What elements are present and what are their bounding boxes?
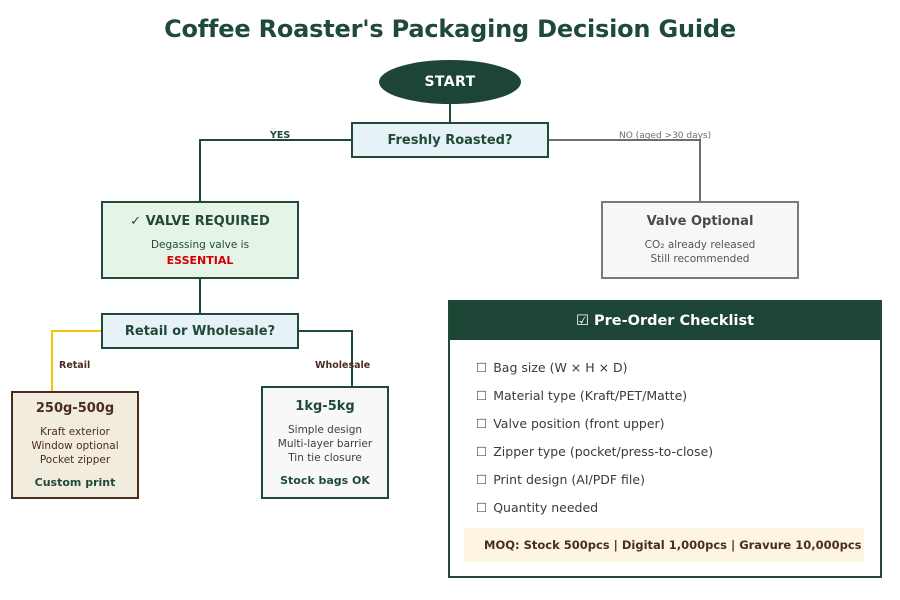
checkbox-empty-icon[interactable]: ☐ <box>476 466 487 494</box>
checklist-item-label: Valve position (front upper) <box>493 416 664 431</box>
checkbox-empty-icon[interactable]: ☐ <box>476 382 487 410</box>
checkbox-empty-icon[interactable]: ☐ <box>476 354 487 382</box>
checklist-item[interactable]: ☐Material type (Kraft/PET/Matte) <box>476 382 880 410</box>
checklist-item[interactable]: ☐Print design (AI/PDF file) <box>476 466 880 494</box>
connector-start-to-freshly <box>449 104 451 122</box>
checklist-item-label: Print design (AI/PDF file) <box>493 472 645 487</box>
valve-optional-heading: Valve Optional <box>647 214 754 229</box>
node-retail-spec[interactable]: 250g-500g Kraft exterior Window optional… <box>11 391 139 499</box>
connector-valve-to-channel <box>199 279 201 313</box>
checklist-item-label: Material type (Kraft/PET/Matte) <box>493 388 687 403</box>
moq-banner: MOQ: Stock 500pcs | Digital 1,000pcs | G… <box>464 528 864 562</box>
retail-sub-1: Kraft exterior <box>40 425 110 439</box>
wholesale-footnote: Stock bags OK <box>280 474 370 487</box>
page-title: Coffee Roaster's Packaging Decision Guid… <box>0 15 900 43</box>
edge-label-yes: YES <box>270 130 290 141</box>
node-valve-required[interactable]: ✓ VALVE REQUIRED Degassing valve is ESSE… <box>101 201 299 279</box>
checklist-item[interactable]: ☐Bag size (W × H × D) <box>476 354 880 382</box>
node-decision-freshly-label: Freshly Roasted? <box>387 133 512 148</box>
valve-required-heading: ✓ VALVE REQUIRED <box>130 214 270 229</box>
node-start[interactable]: START <box>379 60 521 104</box>
node-wholesale-spec[interactable]: 1kg-5kg Simple design Multi-layer barrie… <box>261 386 389 499</box>
edge-label-wholesale: Wholesale <box>315 360 370 371</box>
retail-footnote: Custom print <box>35 476 116 489</box>
node-start-label: START <box>424 74 475 90</box>
node-decision-freshly-roasted[interactable]: Freshly Roasted? <box>351 122 549 158</box>
connector-retail-vertical <box>51 330 53 391</box>
checkbox-empty-icon[interactable]: ☐ <box>476 410 487 438</box>
connector-wholesale-vertical <box>351 330 353 386</box>
valve-required-sub: Degassing valve is <box>151 238 249 252</box>
pre-order-checklist-panel: ☑ Pre-Order Checklist ☐Bag size (W × H ×… <box>448 300 882 578</box>
checklist-item-label: Bag size (W × H × D) <box>493 360 627 375</box>
valve-required-emphasis: ESSENTIAL <box>167 254 234 267</box>
connector-no-vertical <box>699 139 701 201</box>
retail-heading: 250g-500g <box>36 401 114 416</box>
edge-label-retail: Retail <box>59 360 90 371</box>
checklist-item-label: Quantity needed <box>493 500 598 515</box>
checklist-body: ☐Bag size (W × H × D)☐Material type (Kra… <box>450 340 880 576</box>
valve-optional-sub-1: CO₂ already released <box>645 238 756 252</box>
moq-note-label: MOQ: Stock 500pcs | Digital 1,000pcs | G… <box>484 538 862 552</box>
node-decision-retail-or-wholesale[interactable]: Retail or Wholesale? <box>101 313 299 349</box>
connector-wholesale-horizontal <box>299 330 353 332</box>
checklist-header-label: ☑ Pre-Order Checklist <box>576 313 754 329</box>
checkbox-empty-icon[interactable]: ☐ <box>476 438 487 466</box>
connector-yes-vertical <box>199 139 201 201</box>
flowchart-canvas: Coffee Roaster's Packaging Decision Guid… <box>0 0 900 600</box>
wholesale-sub-3: Tin tie closure <box>288 451 362 465</box>
checkbox-empty-icon[interactable]: ☐ <box>476 494 487 522</box>
node-valve-optional[interactable]: Valve Optional CO₂ already released Stil… <box>601 201 799 279</box>
checklist-item[interactable]: ☐Zipper type (pocket/press-to-close) <box>476 438 880 466</box>
checklist-item-label: Zipper type (pocket/press-to-close) <box>493 444 713 459</box>
retail-sub-2: Window optional <box>31 439 118 453</box>
checklist-item[interactable]: ☐Quantity needed <box>476 494 880 522</box>
checklist-header: ☑ Pre-Order Checklist <box>450 302 880 340</box>
connector-retail-horizontal <box>51 330 101 332</box>
node-decision-channel-label: Retail or Wholesale? <box>125 324 275 339</box>
wholesale-heading: 1kg-5kg <box>295 399 354 414</box>
checklist-items: ☐Bag size (W × H × D)☐Material type (Kra… <box>476 354 880 550</box>
edge-label-no: NO (aged >30 days) <box>619 131 711 141</box>
wholesale-sub-1: Simple design <box>288 423 362 437</box>
retail-sub-3: Pocket zipper <box>40 453 110 467</box>
wholesale-sub-2: Multi-layer barrier <box>278 437 372 451</box>
checklist-item[interactable]: ☐Valve position (front upper) <box>476 410 880 438</box>
valve-optional-sub-2: Still recommended <box>651 252 750 266</box>
